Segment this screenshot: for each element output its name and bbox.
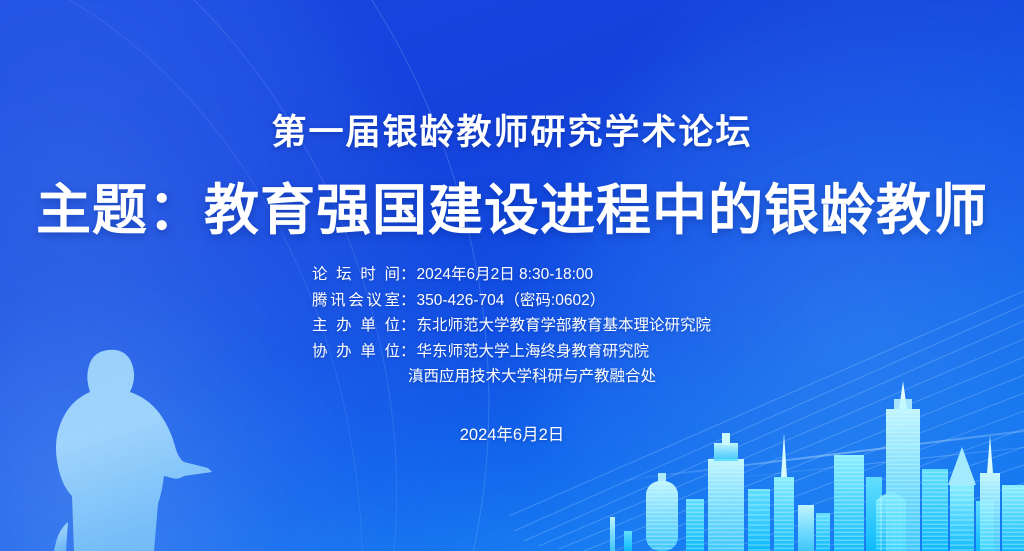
info-colon-time: ： xyxy=(400,262,416,288)
forum-subtitle: 第一届银龄教师研究学术论坛 xyxy=(0,104,1024,155)
event-date: 2024年6月2日 xyxy=(0,421,1024,445)
conference-poster: 第一届银龄教师研究学术论坛 主题：教育强国建设进程中的银龄教师 论坛时间 ： 2… xyxy=(0,0,1024,551)
info-label-meeting-room: 腾讯会议室 xyxy=(312,288,400,314)
info-label-time: 论坛时间 xyxy=(312,262,400,288)
info-value-organizer: 东北师范大学教育学部教育基本理论研究院 xyxy=(417,313,712,339)
info-value-co-organizer-second: 滇西应用技术大学科研与产教融合处 xyxy=(312,364,711,390)
info-colon-co-organizer: ： xyxy=(400,339,416,365)
info-colon-meeting-room: ： xyxy=(400,288,416,314)
info-colon-organizer: ： xyxy=(400,313,416,339)
info-value-meeting-room: 350-426-704（密码:0602） xyxy=(417,288,606,314)
info-row-time: 论坛时间 ： 2024年6月2日 8:30-18:00 xyxy=(312,262,711,288)
info-value-co-organizer: 华东师范大学上海终身教育研究院 xyxy=(417,339,650,365)
info-row-organizer: 主办单位 ： 东北师范大学教育学部教育基本理论研究院 xyxy=(312,313,711,339)
info-value-time: 2024年6月2日 8:30-18:00 xyxy=(417,262,594,288)
page-title: 主题：教育强国建设进程中的银龄教师 xyxy=(0,165,1024,245)
poster-content: 第一届银龄教师研究学术论坛 主题：教育强国建设进程中的银龄教师 论坛时间 ： 2… xyxy=(0,0,1024,551)
info-label-co-organizer: 协办单位 xyxy=(312,339,400,365)
info-row-meeting-room: 腾讯会议室 ： 350-426-704（密码:0602） xyxy=(312,288,711,314)
forum-info-block: 论坛时间 ： 2024年6月2日 8:30-18:00 腾讯会议室 ： 350-… xyxy=(312,262,711,390)
info-label-organizer: 主办单位 xyxy=(312,313,400,339)
info-row-co-organizer: 协办单位 ： 华东师范大学上海终身教育研究院 xyxy=(312,339,711,365)
